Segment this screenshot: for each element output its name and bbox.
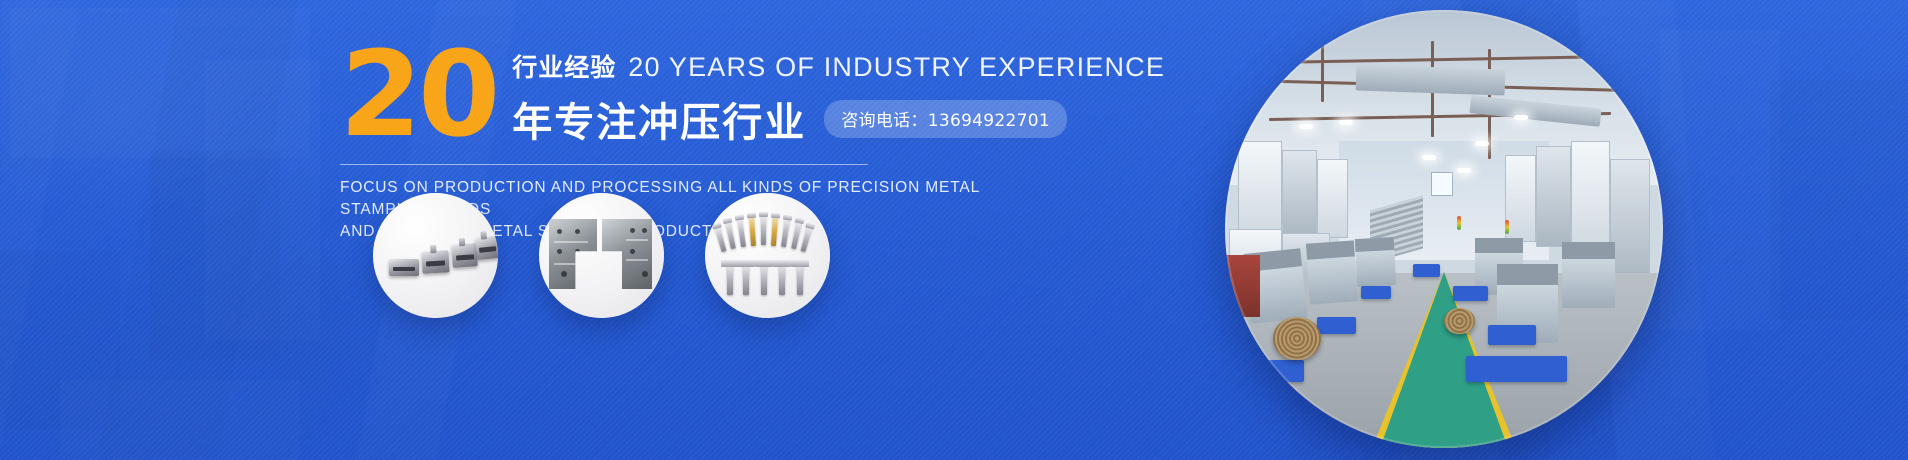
workshop-cabinet	[1610, 159, 1649, 282]
terminal-strip	[797, 263, 803, 295]
terminal-strip	[743, 263, 749, 295]
stamping-machine	[1562, 242, 1615, 308]
phone-badge[interactable]: 咨询电话：13694922701	[824, 100, 1067, 138]
blue-pallet	[1466, 356, 1567, 382]
ceiling-lamp	[1457, 168, 1471, 173]
experience-cn-label: 行业经验	[512, 48, 616, 84]
headline-cn-main: 年专注冲压行业	[512, 90, 806, 148]
product-circle-usb-connectors[interactable]	[373, 193, 498, 318]
years-number: 20	[339, 46, 497, 143]
workshop-partition	[1317, 159, 1348, 238]
headline-divider	[340, 164, 868, 165]
experience-en-label: 20 YEARS OF INDUSTRY EXPERIENCE	[628, 52, 1165, 83]
headline-line-1: 行业经验 20 YEARS OF INDUSTRY EXPERIENCE	[512, 48, 1165, 84]
blue-pallet	[1251, 360, 1304, 382]
headline-line-2: 年专注冲压行业 咨询电话：13694922701	[512, 90, 1165, 148]
ceiling-lamp	[1339, 120, 1353, 125]
blue-pallet	[1413, 264, 1439, 277]
factory-workshop-photo[interactable]	[1225, 10, 1663, 448]
workshop-partition	[1536, 146, 1571, 247]
ceiling-lamp	[1514, 115, 1528, 120]
workshop-partition	[1238, 141, 1282, 237]
workshop-partition	[1505, 155, 1536, 243]
headline-row: 20 行业经验 20 YEARS OF INDUSTRY EXPERIENCE …	[340, 40, 1110, 148]
blue-pallet	[1453, 286, 1488, 301]
ceiling-pipe	[1321, 32, 1324, 102]
promo-banner: 20 行业经验 20 YEARS OF INDUSTRY EXPERIENCE …	[0, 0, 1908, 460]
product-circle-stamping-mold[interactable]	[539, 193, 664, 318]
air-duct	[1356, 64, 1506, 95]
red-equipment-box	[1225, 255, 1260, 316]
blue-pallet	[1361, 286, 1392, 299]
usb-connector-part	[421, 250, 449, 273]
usb-connector-part	[475, 236, 498, 260]
ceiling-lamp	[1422, 155, 1436, 160]
stamping-machine	[1355, 237, 1397, 287]
terminal-strip	[761, 263, 767, 295]
usb-connector-part	[389, 259, 419, 276]
stamping-machine	[1306, 241, 1358, 306]
workshop-partition	[1571, 141, 1610, 255]
ceiling-lamp	[1475, 141, 1489, 146]
blue-pallet	[1317, 317, 1356, 335]
terminal-strip	[779, 263, 785, 295]
factory-window	[1431, 172, 1453, 196]
factory-scene	[1225, 10, 1663, 448]
andon-light	[1457, 216, 1461, 230]
ceiling-lamp	[1299, 124, 1313, 129]
workshop-partition	[1282, 150, 1317, 238]
terminal-pin	[761, 215, 766, 245]
blue-pallet	[1488, 325, 1536, 345]
usb-connector-part	[451, 243, 478, 268]
product-circle-group	[373, 193, 830, 318]
product-circle-terminal-pins[interactable]	[705, 193, 830, 318]
headline-text-group: 行业经验 20 YEARS OF INDUSTRY EXPERIENCE 年专注…	[512, 40, 1165, 148]
terminal-strip	[727, 263, 733, 295]
andon-light	[1505, 220, 1509, 234]
wire-spool	[1444, 308, 1475, 334]
